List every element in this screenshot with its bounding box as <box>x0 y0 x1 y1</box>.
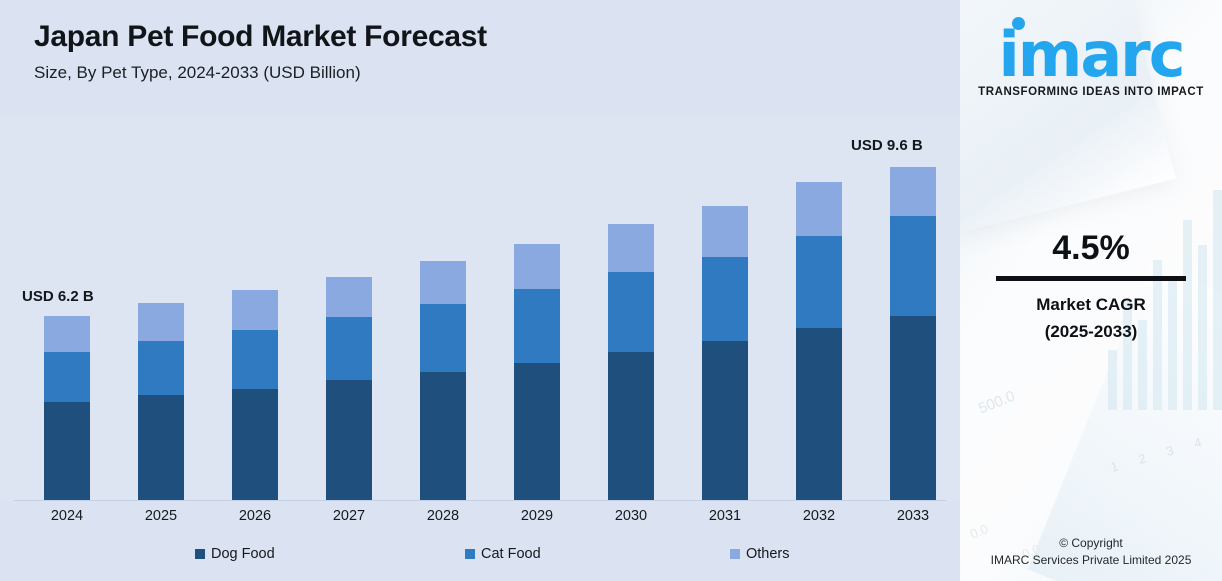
chart-panel: Japan Pet Food Market Forecast Size, By … <box>0 0 960 581</box>
legend-item-dog-food[interactable]: Dog Food <box>195 546 275 562</box>
legend-label: Others <box>746 546 790 562</box>
copyright-line2: IMARC Services Private Limited 2025 <box>960 552 1222 569</box>
x-axis-label-2030: 2030 <box>584 508 678 524</box>
cagr-label-line2: (2025-2033) <box>960 318 1222 345</box>
bar-segment-others-2026 <box>232 290 278 330</box>
x-axis-labels: 2024202520262027202820292030203120322033 <box>0 508 960 534</box>
value-label-start: USD 6.2 B <box>22 288 94 305</box>
bar-segment-dog-food-2031 <box>702 341 748 500</box>
cagr-label-line1: Market CAGR <box>960 291 1222 318</box>
bar-segment-dog-food-2028 <box>420 372 466 500</box>
x-axis-label-2027: 2027 <box>302 508 396 524</box>
bar-segment-dog-food-2029 <box>514 363 560 500</box>
bar-segment-cat-food-2027 <box>326 317 372 380</box>
legend-swatch-icon <box>730 549 740 559</box>
bar-segment-cat-food-2029 <box>514 289 560 362</box>
bar-column-2033 <box>890 167 936 500</box>
bar-column-2029 <box>514 244 560 500</box>
x-axis-label-2033: 2033 <box>866 508 960 524</box>
x-axis-label-2031: 2031 <box>678 508 772 524</box>
bar-segment-cat-food-2032 <box>796 236 842 329</box>
legend-swatch-icon <box>465 549 475 559</box>
cagr-value: 4.5% <box>960 228 1222 268</box>
bar-segment-cat-food-2024 <box>44 352 90 402</box>
x-axis-label-2032: 2032 <box>772 508 866 524</box>
bar-segment-others-2030 <box>608 224 654 272</box>
bar-segment-dog-food-2027 <box>326 380 372 500</box>
bar-column-2030 <box>608 224 654 500</box>
x-axis-label-2026: 2026 <box>208 508 302 524</box>
bar-column-2031 <box>702 206 748 500</box>
logo-wordmark: imarc <box>998 22 1183 88</box>
chart-legend: Dog FoodCat FoodOthers <box>0 546 960 570</box>
value-label-end: USD 9.6 B <box>851 137 923 154</box>
bar-segment-dog-food-2030 <box>608 352 654 500</box>
bar-column-2032 <box>796 182 842 500</box>
chart-infographic: Japan Pet Food Market Forecast Size, By … <box>0 0 1222 581</box>
bar-segment-cat-food-2025 <box>138 341 184 396</box>
copyright-block: © Copyright IMARC Services Private Limit… <box>960 535 1222 569</box>
imarc-logo: imarc TRANSFORMING IDEAS INTO IMPACT <box>960 22 1222 98</box>
bars-layer <box>0 0 960 581</box>
bar-column-2026 <box>232 290 278 500</box>
legend-item-others[interactable]: Others <box>730 546 790 562</box>
bar-segment-dog-food-2032 <box>796 328 842 500</box>
bar-segment-others-2024 <box>44 316 90 352</box>
bar-segment-others-2031 <box>702 206 748 257</box>
bar-segment-cat-food-2028 <box>420 304 466 371</box>
bar-column-2025 <box>138 303 184 500</box>
bar-segment-dog-food-2033 <box>890 316 936 500</box>
legend-label: Dog Food <box>211 546 275 562</box>
logo-text: imarc <box>998 18 1183 91</box>
legend-label: Cat Food <box>481 546 541 562</box>
bar-segment-dog-food-2026 <box>232 389 278 500</box>
x-axis-label-2025: 2025 <box>114 508 208 524</box>
x-axis-label-2029: 2029 <box>490 508 584 524</box>
legend-swatch-icon <box>195 549 205 559</box>
bar-segment-others-2027 <box>326 277 372 318</box>
bar-segment-cat-food-2026 <box>232 330 278 389</box>
bar-segment-others-2032 <box>796 182 842 235</box>
x-axis-label-2024: 2024 <box>20 508 114 524</box>
bar-segment-dog-food-2025 <box>138 395 184 500</box>
bar-column-2028 <box>420 261 466 500</box>
legend-item-cat-food[interactable]: Cat Food <box>465 546 541 562</box>
bar-segment-others-2033 <box>890 167 936 216</box>
cagr-divider <box>996 276 1186 281</box>
bar-segment-others-2025 <box>138 303 184 341</box>
brand-panel: 1 2 3 4 500.0 0.0 0.0 imarc TRANSFORMING… <box>960 0 1222 581</box>
bar-segment-cat-food-2030 <box>608 272 654 352</box>
x-axis-label-2028: 2028 <box>396 508 490 524</box>
bar-segment-others-2029 <box>514 244 560 290</box>
decorative-bar <box>1108 350 1117 410</box>
bar-segment-others-2028 <box>420 261 466 304</box>
bar-column-2024 <box>44 316 90 500</box>
copyright-line1: © Copyright <box>960 535 1222 552</box>
bar-column-2027 <box>326 277 372 500</box>
bar-segment-cat-food-2033 <box>890 216 936 317</box>
cagr-block: 4.5% Market CAGR (2025-2033) <box>960 228 1222 345</box>
bar-segment-dog-food-2024 <box>44 402 90 500</box>
bar-segment-cat-food-2031 <box>702 257 748 341</box>
